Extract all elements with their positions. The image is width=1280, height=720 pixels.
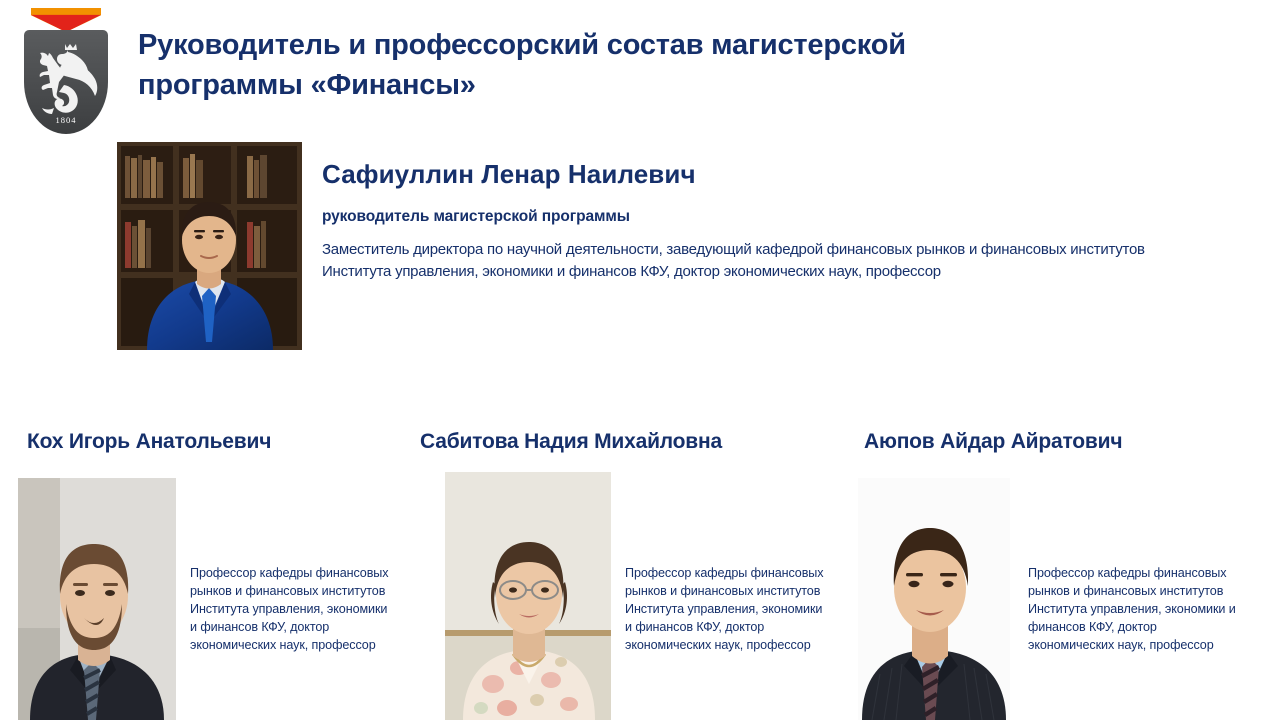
page-title: Руководитель и профессорский состав маги… — [138, 25, 958, 105]
professor-name: Аюпов Айдар Айратович — [864, 430, 1122, 454]
professor-card: Аюпов Айдар Айратович — [850, 420, 1280, 720]
program-head-details: Сафиуллин Ленар Наилевич руководитель ма… — [322, 160, 1232, 284]
professor-description: Профессор кафедры финансовых рынков и фи… — [625, 565, 830, 654]
program-head-block: Сафиуллин Ленар Наилевич руководитель ма… — [0, 138, 1280, 368]
professor-photo — [445, 472, 611, 720]
program-head-role: руководитель магистерской программы — [322, 208, 1232, 226]
program-head-name: Сафиуллин Ленар Наилевич — [322, 160, 1232, 189]
professor-card: Кох Игорь Анатольевич — [0, 420, 430, 720]
professors-row: Кох Игорь Анатольевич — [0, 420, 1280, 720]
professor-description: Профессор кафедры финансовых рынков и фи… — [190, 565, 395, 654]
professor-card: Сабитова Надия Михайловна — [420, 420, 850, 720]
professor-photo — [18, 478, 176, 720]
professor-photo — [858, 478, 1010, 720]
professor-name: Кох Игорь Анатольевич — [27, 430, 271, 454]
professor-name: Сабитова Надия Михайловна — [420, 430, 722, 454]
kfu-logo: 1804 — [18, 8, 114, 134]
program-head-description: Заместитель директора по научной деятель… — [322, 239, 1212, 285]
professor-description: Профессор кафедры финансовых рынков и фи… — [1028, 565, 1236, 654]
program-head-photo — [117, 142, 302, 350]
logo-year-label: 1804 — [24, 115, 108, 125]
slide-header: 1804 Руководитель и профессорский состав… — [0, 0, 1280, 140]
shield-icon: 1804 — [24, 30, 108, 134]
